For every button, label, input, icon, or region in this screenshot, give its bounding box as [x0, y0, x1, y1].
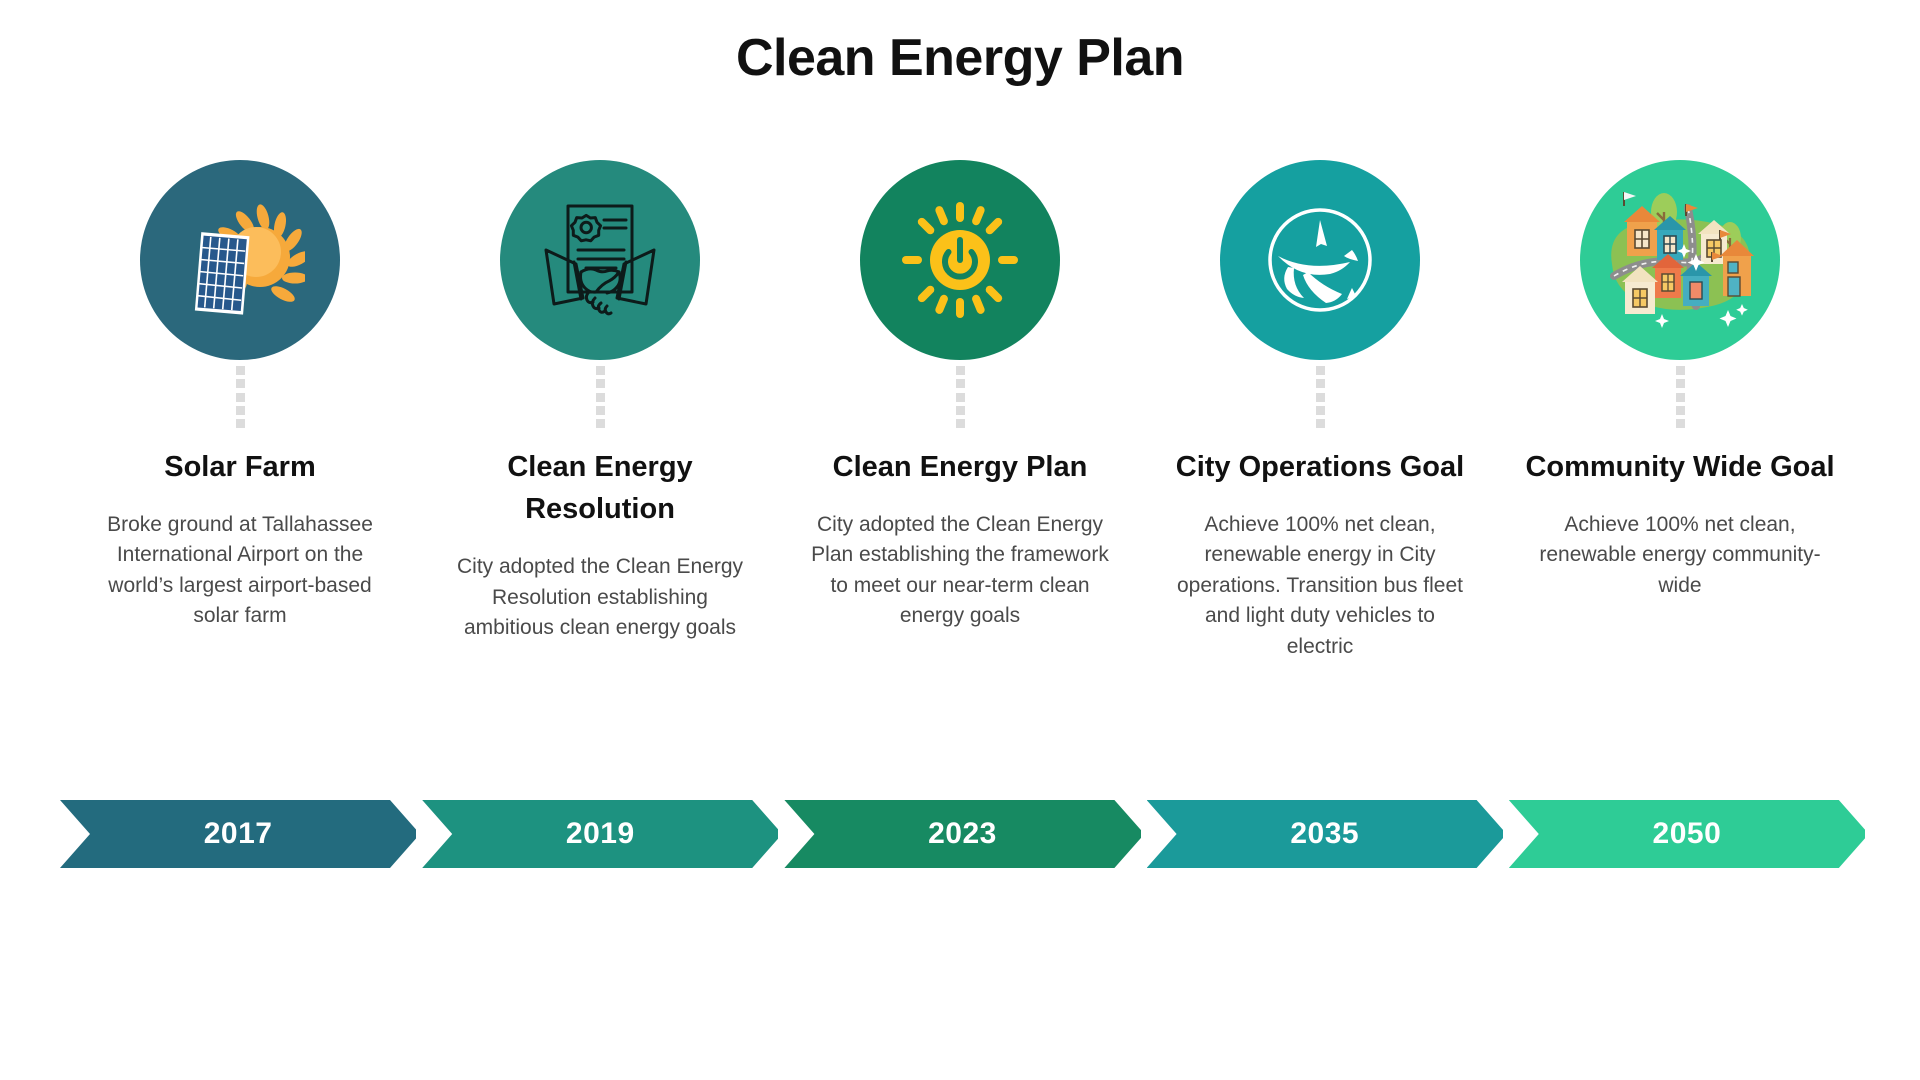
connector-dot	[1676, 366, 1685, 375]
milestone-description: Broke ground at Tallahassee Internationa…	[90, 510, 390, 632]
connector-dot	[1316, 406, 1325, 415]
icon-circle-community-wide-goal[interactable]	[1580, 160, 1780, 360]
year-label: 2035	[1290, 817, 1359, 851]
icon-circle-city-operations-goal[interactable]	[1220, 160, 1420, 360]
timeline-infographic: Clean Energy Plan	[0, 0, 1920, 1080]
milestone-description: City adopted the Clean Energy Plan estab…	[810, 510, 1110, 632]
year-chevron-2019[interactable]: 2019	[422, 800, 778, 868]
connector-dots	[1676, 366, 1685, 428]
connector-dot	[956, 406, 965, 415]
connector-dots	[596, 366, 605, 428]
milestone-column-solar-farm[interactable]: Solar Farm Broke ground at Tallahassee I…	[60, 160, 420, 632]
connector-dot	[1316, 379, 1325, 388]
page-title: Clean Energy Plan	[0, 28, 1920, 88]
milestone-description: City adopted the Clean Energy Resolution…	[450, 552, 750, 643]
connector-dot	[596, 379, 605, 388]
year-chevron-2035[interactable]: 2035	[1147, 800, 1503, 868]
connector-dots	[956, 366, 965, 428]
year-label: 2019	[566, 817, 635, 851]
connector-dot	[236, 419, 245, 428]
sun-power-button-icon	[900, 200, 1020, 320]
icon-circle-clean-energy-plan[interactable]	[860, 160, 1060, 360]
connector-dot	[1676, 379, 1685, 388]
year-label: 2050	[1653, 817, 1722, 851]
connector-dot	[596, 393, 605, 402]
connector-dot	[596, 419, 605, 428]
connector-dot	[956, 393, 965, 402]
icon-circle-solar-farm[interactable]	[140, 160, 340, 360]
milestone-column-clean-energy-plan[interactable]: Clean Energy Plan City adopted the Clean…	[780, 160, 1140, 632]
milestone-heading: Solar Farm	[164, 446, 316, 488]
milestone-heading: Clean Energy Plan	[833, 446, 1088, 488]
connector-dot	[1676, 419, 1685, 428]
icon-circle-clean-energy-resolution[interactable]	[500, 160, 700, 360]
star-swoosh-icon	[1258, 198, 1382, 322]
connector-dot	[1676, 393, 1685, 402]
connector-dots	[236, 366, 245, 428]
milestone-heading: Community Wide Goal	[1525, 446, 1834, 488]
connector-dot	[596, 406, 605, 415]
milestone-column-city-operations-goal[interactable]: City Operations Goal Achieve 100% net cl…	[1140, 160, 1500, 662]
connector-dot	[1316, 419, 1325, 428]
year-label: 2017	[204, 817, 273, 851]
connector-dot	[1316, 393, 1325, 402]
milestone-columns: Solar Farm Broke ground at Tallahassee I…	[60, 160, 1860, 662]
connector-dot	[956, 379, 965, 388]
connector-dot	[236, 393, 245, 402]
milestone-description: Achieve 100% net clean, renewable energy…	[1530, 510, 1830, 601]
year-label: 2023	[928, 817, 997, 851]
community-village-icon	[1592, 172, 1768, 348]
connector-dot	[236, 366, 245, 375]
milestone-heading: Clean Energy Resolution	[435, 446, 765, 530]
connector-dot	[236, 379, 245, 388]
connector-dot	[596, 366, 605, 375]
milestone-heading: City Operations Goal	[1176, 446, 1464, 488]
connector-dots	[1316, 366, 1325, 428]
handshake-document-icon	[538, 198, 662, 322]
connector-dot	[956, 366, 965, 375]
year-chevron-2023[interactable]: 2023	[784, 800, 1140, 868]
year-chevron-2017[interactable]: 2017	[60, 800, 416, 868]
year-chevron-2050[interactable]: 2050	[1509, 800, 1865, 868]
year-chevron-band: 2017 2019 2023 2035 2050	[60, 800, 1865, 868]
milestone-column-clean-energy-resolution[interactable]: Clean Energy Resolution City adopted the…	[420, 160, 780, 643]
connector-dot	[956, 419, 965, 428]
solar-panel-sun-icon	[175, 195, 305, 325]
connector-dot	[1676, 406, 1685, 415]
connector-dot	[1316, 366, 1325, 375]
milestone-column-community-wide-goal[interactable]: Community Wide Goal Achieve 100% net cle…	[1500, 160, 1860, 601]
connector-dot	[236, 406, 245, 415]
milestone-description: Achieve 100% net clean, renewable energy…	[1170, 510, 1470, 662]
